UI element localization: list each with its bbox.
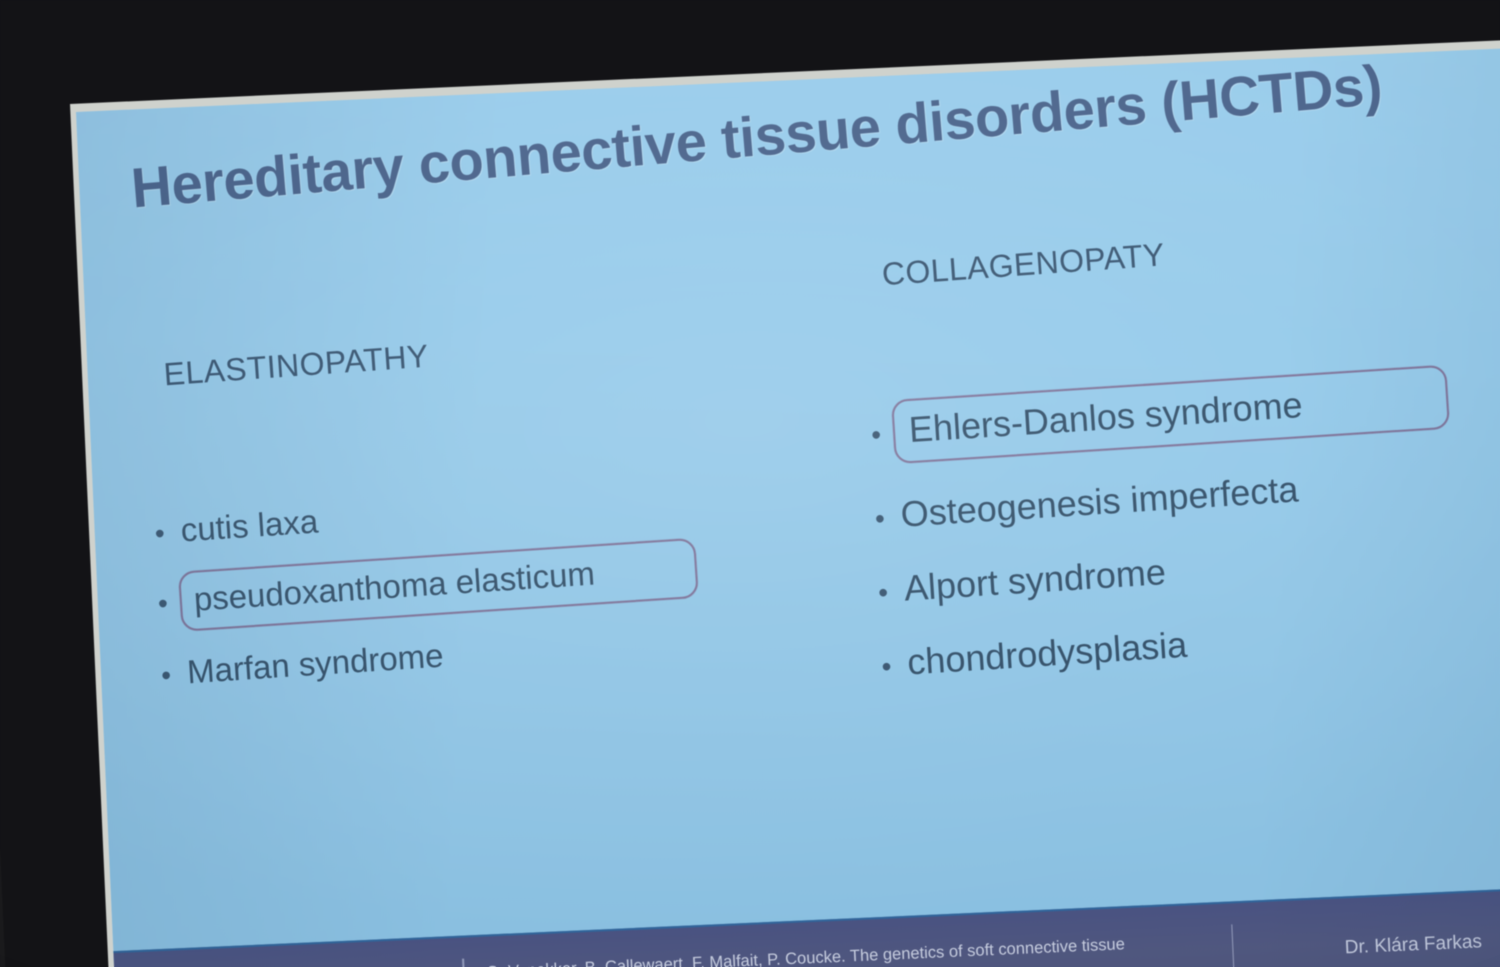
bullet-dot-icon: • — [160, 661, 184, 690]
bullet-list-collagenopaty: • Ehlers-Danlos syndrome • Osteogenesis … — [869, 365, 1500, 709]
bullet-dot-icon: • — [154, 519, 178, 548]
bullet-dot-icon: • — [157, 589, 181, 618]
column-heading-elastinopathy: ELASTINOPATHY — [162, 338, 429, 394]
bullet-dot-icon: • — [870, 420, 894, 449]
list-item-highlighted: • Ehlers-Danlos syndrome — [869, 358, 1500, 465]
list-item: • chondrodysplasia — [880, 598, 1500, 687]
university-branding: SEMMELWEIS UNIVERSITY 1769 — [103, 936, 465, 967]
list-item-label: cutis laxa — [175, 500, 323, 551]
bullet-dot-icon: • — [881, 652, 905, 681]
list-item-label: Marfan syndrome — [182, 634, 449, 693]
list-item-label: Alport syndrome — [899, 549, 1171, 612]
list-item-label: pseudoxanthoma elasticum — [178, 538, 699, 632]
list-item-label: Ehlers-Danlos syndrome — [891, 365, 1450, 464]
presentation-slide: Hereditary connective tissue disorders (… — [76, 43, 1500, 967]
projected-slide-photo: Hereditary connective tissue disorders (… — [0, 0, 1500, 967]
list-item-label: chondrodysplasia — [902, 622, 1193, 686]
bullet-list-elastinopathy: • cutis laxa • pseudoxanthoma elasticum … — [154, 478, 762, 708]
bullet-dot-icon: • — [874, 504, 898, 533]
bullet-dot-icon: • — [877, 578, 901, 607]
slide-footer: SEMMELWEIS UNIVERSITY 1769 O. Vanakker, … — [103, 880, 1500, 967]
list-item: • Osteogenesis imperfecta — [873, 450, 1500, 539]
column-heading-collagenopaty: COLLAGENOPATY — [881, 236, 1166, 293]
citation-reference: O. Vanakker, B. Callewaert, F. Malfait, … — [464, 928, 1234, 967]
presenter-name: Dr. Klára Farkas — [1233, 925, 1500, 965]
list-item: • Alport syndrome — [877, 524, 1500, 613]
list-item-label: Osteogenesis imperfecta — [895, 466, 1303, 538]
list-item-highlighted: • pseudoxanthoma elasticum — [156, 534, 759, 633]
